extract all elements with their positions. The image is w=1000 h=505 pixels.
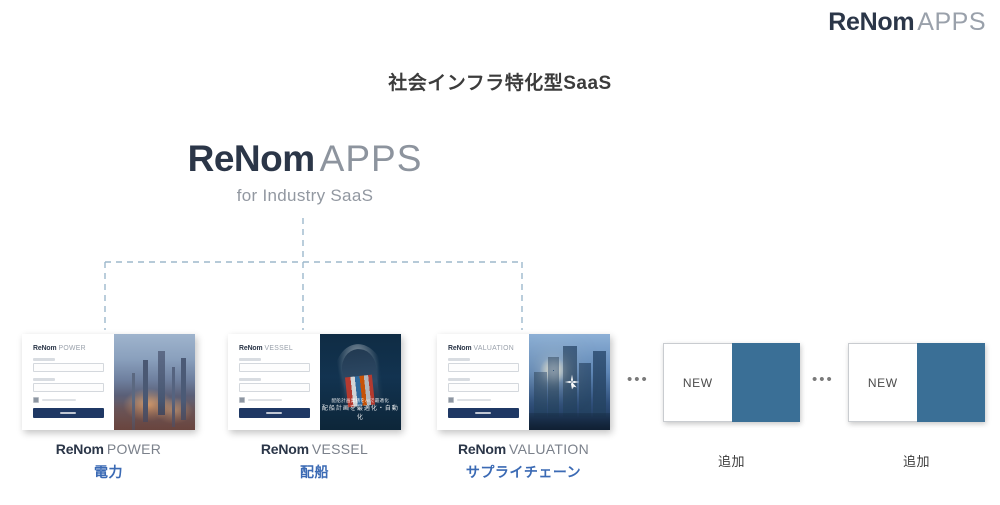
mini-logo-renom-text: ReNom: [33, 345, 57, 352]
new-card-frame-1[interactable]: NEW: [663, 343, 800, 422]
mini-logo-renom-text: ReNom: [448, 345, 472, 352]
username-input[interactable]: [239, 363, 310, 372]
photo-caption-small: 配船計画業務をAIで最適化: [320, 398, 401, 405]
hero-photo-vessel: 配船計画業務をAIで最適化 配船計画を最適化・自動化: [320, 334, 401, 430]
mini-logo-valuation: ReNom VALUATION: [448, 345, 517, 352]
login-button[interactable]: [448, 408, 519, 418]
caption-product-text: VESSEL: [312, 441, 368, 457]
remember-me-row[interactable]: [448, 397, 519, 403]
card-caption-power: ReNom POWER 電力: [22, 441, 195, 482]
brand-logo-top-right: ReNom APPS: [828, 8, 986, 37]
username-input[interactable]: [33, 363, 104, 372]
mini-logo-vessel: ReNom VESSEL: [239, 345, 308, 352]
caption-en-vessel: ReNom VESSEL: [228, 441, 401, 457]
ellipsis-separator-2: •••: [812, 372, 834, 387]
password-field-label: [33, 378, 55, 381]
hero-photo-valuation: [529, 334, 610, 430]
new-card-caption-1: 追加: [663, 451, 800, 470]
product-card-vessel[interactable]: ReNom VESSEL: [228, 334, 401, 482]
product-card-valuation[interactable]: ReNom VALUATION: [437, 334, 610, 482]
remember-me-checkbox[interactable]: [33, 397, 39, 403]
new-card-caption-2: 追加: [848, 451, 985, 470]
new-card-label-2: NEW: [848, 343, 917, 422]
app-screenshot-vessel[interactable]: ReNom VESSEL: [228, 334, 401, 430]
container-ship-photo: 配船計画業務をAIで最適化 配船計画を最適化・自動化: [320, 334, 401, 430]
caption-renom-text: ReNom: [261, 441, 309, 457]
foreground-shadow: [529, 413, 610, 430]
login-button[interactable]: [239, 408, 310, 418]
remember-me-row[interactable]: [33, 397, 104, 403]
login-panel-valuation: ReNom VALUATION: [437, 334, 529, 430]
caption-en-power: ReNom POWER: [22, 441, 195, 457]
remember-me-label: [42, 399, 76, 401]
ellipsis-separator-1: •••: [627, 372, 649, 387]
username-input[interactable]: [448, 363, 519, 372]
industrial-plant-photo: [114, 334, 195, 430]
mini-logo-product-text: VALUATION: [473, 345, 514, 352]
remember-me-row[interactable]: [239, 397, 310, 403]
caption-jp-vessel: 配船: [228, 462, 401, 482]
remember-me-checkbox[interactable]: [448, 397, 454, 403]
mini-logo-product-text: VESSEL: [264, 345, 292, 352]
hero-logo-apps-text: APPS: [320, 138, 423, 180]
mini-logo-power: ReNom POWER: [33, 345, 102, 352]
new-card-blue-panel-2: [917, 343, 986, 422]
password-field-label: [448, 378, 470, 381]
page-title: 社会インフラ特化型SaaS: [0, 68, 1000, 95]
caption-jp-valuation: サプライチェーン: [437, 462, 610, 482]
new-card-label-1: NEW: [663, 343, 732, 422]
login-button[interactable]: [33, 408, 104, 418]
brand-logo-apps-text: APPS: [917, 8, 986, 37]
login-panel-power: ReNom POWER: [22, 334, 114, 430]
product-card-power[interactable]: ReNom POWER: [22, 334, 195, 482]
sun-flare: [553, 370, 554, 371]
building-shape: [534, 372, 547, 416]
caption-renom-text: ReNom: [458, 441, 506, 457]
new-card-frame-2[interactable]: NEW: [848, 343, 985, 422]
remember-me-label: [457, 399, 491, 401]
new-card-blue-panel-1: [732, 343, 801, 422]
building-shape: [579, 363, 591, 417]
brand-logo-renom-text: ReNom: [828, 8, 914, 37]
remember-me-checkbox[interactable]: [239, 397, 245, 403]
photo-caption-large: 配船計画を最適化・自動化: [320, 405, 401, 423]
new-app-card-1[interactable]: NEW 追加: [663, 343, 800, 470]
password-field-label: [239, 378, 261, 381]
card-caption-vessel: ReNom VESSEL 配船: [228, 441, 401, 482]
building-shape: [548, 357, 559, 417]
password-input[interactable]: [239, 383, 310, 392]
caption-product-text: POWER: [107, 441, 161, 457]
mini-logo-renom-text: ReNom: [239, 345, 263, 352]
card-caption-valuation: ReNom VALUATION サプライチェーン: [437, 441, 610, 482]
remember-me-label: [248, 399, 282, 401]
username-field-label: [448, 358, 470, 361]
product-card-row: ReNom POWER: [0, 334, 1000, 505]
caption-jp-power: 電力: [22, 462, 195, 482]
hero-logo-renom-text: ReNom: [188, 138, 315, 180]
app-screenshot-valuation[interactable]: ReNom VALUATION: [437, 334, 610, 430]
city-skyline-photo: [529, 334, 610, 430]
caption-en-valuation: ReNom VALUATION: [437, 441, 610, 457]
app-screenshot-power[interactable]: ReNom POWER: [22, 334, 195, 430]
cursor-crosshair-icon: [564, 374, 580, 390]
password-input[interactable]: [33, 383, 104, 392]
hero-subtitle: for Industry SaaS: [110, 186, 500, 206]
building-shape: [593, 351, 606, 416]
hero-logo: ReNom APPS: [110, 138, 500, 180]
caption-product-text: VALUATION: [509, 441, 589, 457]
username-field-label: [33, 358, 55, 361]
hero-photo-power: [114, 334, 195, 430]
new-app-card-2[interactable]: NEW 追加: [848, 343, 985, 470]
photo-caption-vessel: 配船計画業務をAIで最適化 配船計画を最適化・自動化: [320, 398, 401, 423]
mini-logo-product-text: POWER: [58, 345, 85, 352]
password-input[interactable]: [448, 383, 519, 392]
hero-brand-block: ReNom APPS for Industry SaaS: [110, 138, 500, 206]
username-field-label: [239, 358, 261, 361]
caption-renom-text: ReNom: [56, 441, 104, 457]
slide-root: ReNom APPS 社会インフラ特化型SaaS ReNom APPS for …: [0, 0, 1000, 505]
login-panel-vessel: ReNom VESSEL: [228, 334, 320, 430]
